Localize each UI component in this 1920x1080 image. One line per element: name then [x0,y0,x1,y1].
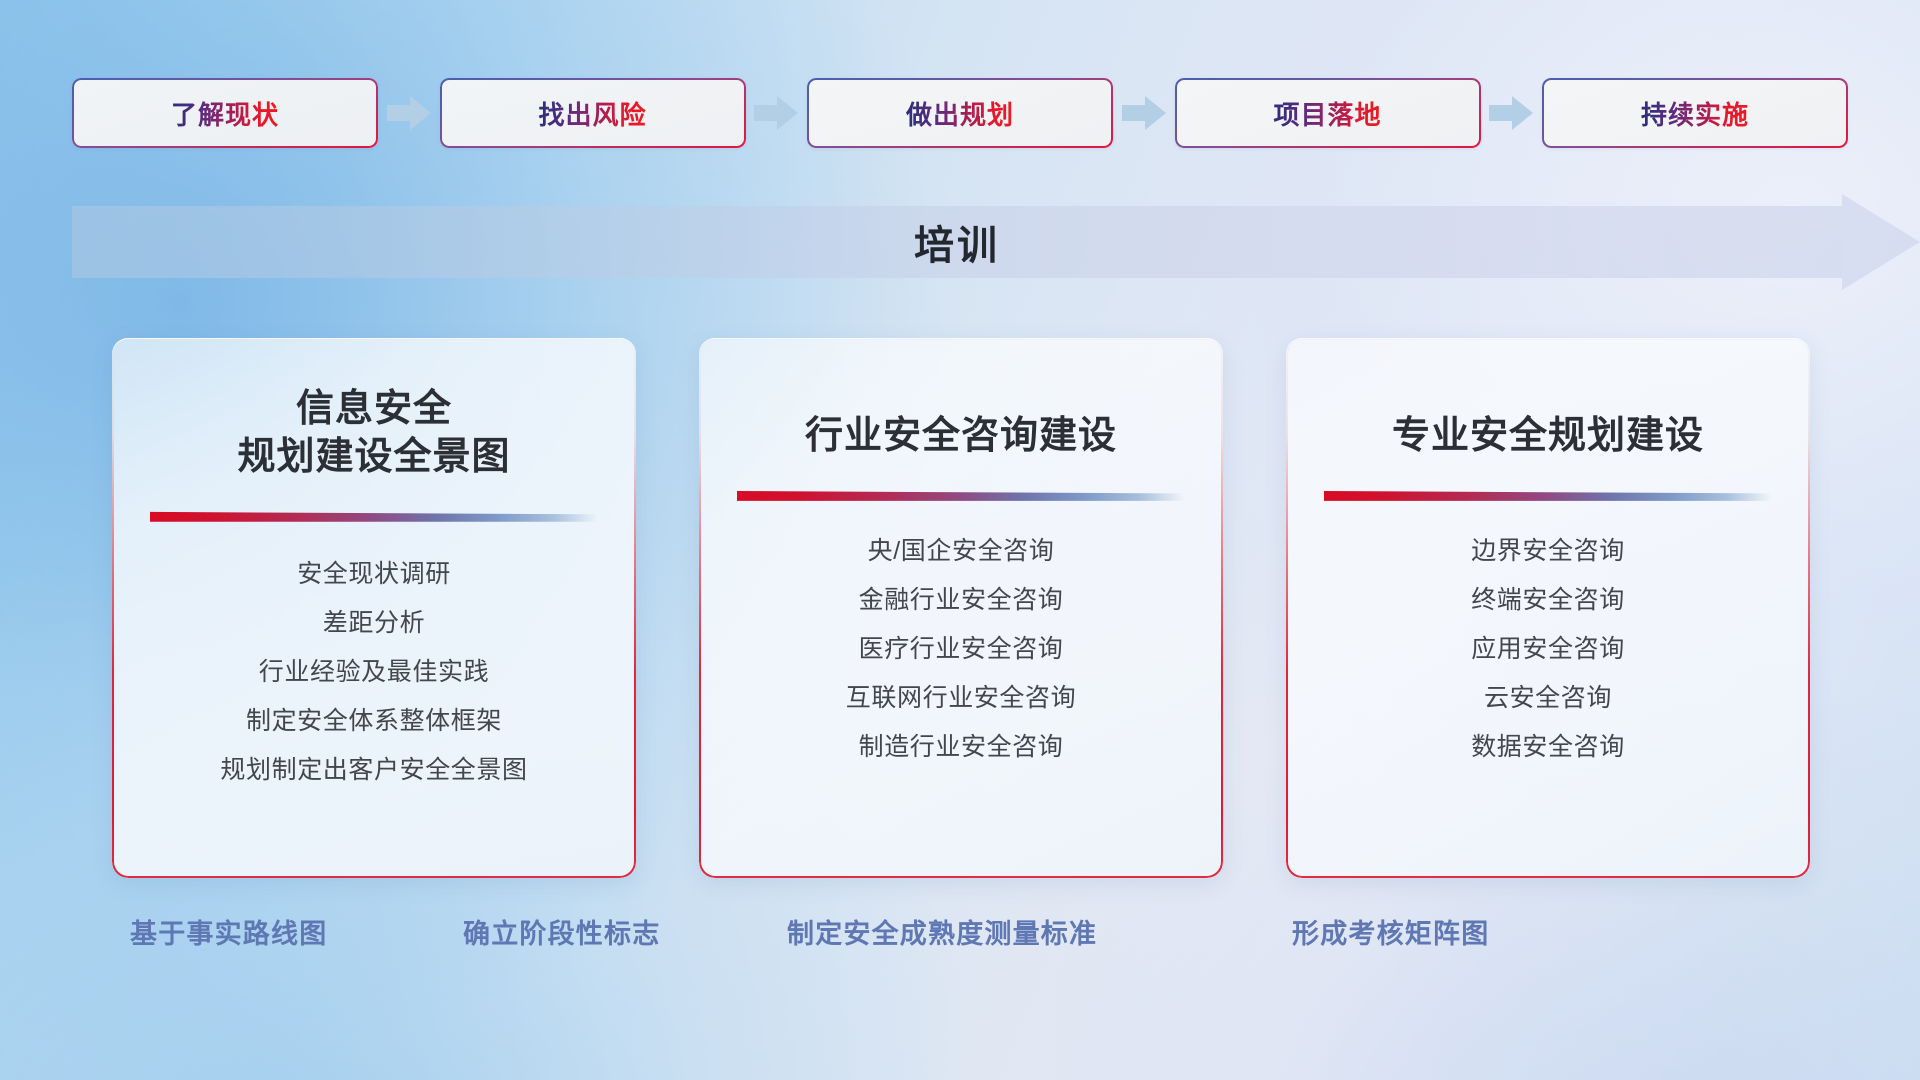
list-item: 央/国企安全咨询 [868,535,1055,568]
list-item: 差距分析 [323,607,425,640]
arrow-right-icon [1489,96,1533,130]
card-divider [737,489,1185,501]
step-chip-label: 找出风险 [538,95,646,132]
card-title: 信息安全 规划建设全景图 [237,386,510,482]
step-chip-label: 持续实施 [1641,95,1749,132]
list-item: 互联网行业安全咨询 [846,682,1076,715]
step-chip-label: 做出规划 [906,95,1014,132]
card-divider [1324,489,1772,501]
list-item: 行业经验及最佳实践 [259,656,489,689]
card-divider-bar [737,489,1185,501]
caption-text: 确立阶段性标志 [463,912,660,951]
arrow-right-icon [387,96,431,130]
process-steps: 了解现状 找出风险 做出规划 项目落地 持续实施 [72,78,1848,148]
card-industry-security-consulting[interactable]: 行业安全咨询建设 央/国企安全咨询 金融行业安全咨询 医疗行业安全咨询 互联网行… [699,338,1223,878]
caption-text: 形成考核矩阵图 [1292,912,1489,951]
arrow-right-icon [754,96,798,130]
caption-row: 基于事实路线图 确立阶段性标志 制定安全成熟度测量标准 形成考核矩阵图 [0,912,1920,960]
step-chip-5[interactable]: 持续实施 [1542,78,1848,148]
card-list: 安全现状调研 差距分析 行业经验及最佳实践 制定安全体系整体框架 规划制定出客户… [220,558,527,787]
card-list: 央/国企安全咨询 金融行业安全咨询 医疗行业安全咨询 互联网行业安全咨询 制造行… [846,535,1076,764]
slide-stage: 了解现状 找出风险 做出规划 项目落地 持续实施 培训 信息安全 规划建设全景图 [0,0,1920,1080]
step-chip-4[interactable]: 项目落地 [1175,78,1481,148]
caption-text: 制定安全成熟度测量标准 [787,912,1097,951]
card-divider [150,510,598,522]
list-item: 医疗行业安全咨询 [859,633,1064,666]
step-chip-3[interactable]: 做出规划 [807,78,1113,148]
list-item: 终端安全咨询 [1471,584,1625,617]
list-item: 制定安全体系整体框架 [246,705,502,738]
banner-arrowhead-icon [1842,194,1920,290]
list-item: 云安全咨询 [1484,682,1612,715]
card-title: 专业安全规划建设 [1392,413,1704,461]
list-item: 金融行业安全咨询 [859,584,1064,617]
card-professional-security-planning[interactable]: 专业安全规划建设 边界安全咨询 终端安全咨询 应用安全咨询 云安全咨询 数据安全… [1286,338,1810,878]
training-banner: 培训 [72,206,1920,278]
step-chip-label: 了解现状 [171,95,279,132]
card-group: 信息安全 规划建设全景图 安全现状调研 差距分析 行业经验及最佳实践 制定安全体… [112,338,1810,878]
step-chip-label: 项目落地 [1273,95,1381,132]
card-information-security-blueprint[interactable]: 信息安全 规划建设全景图 安全现状调研 差距分析 行业经验及最佳实践 制定安全体… [112,338,636,878]
step-chip-1[interactable]: 了解现状 [72,78,378,148]
list-item: 应用安全咨询 [1471,633,1625,666]
list-item: 制造行业安全咨询 [859,731,1064,764]
caption-text: 基于事实路线图 [130,912,327,951]
banner-title: 培训 [72,206,1842,278]
card-title: 行业安全咨询建设 [805,413,1117,461]
list-item: 数据安全咨询 [1471,731,1625,764]
list-item: 安全现状调研 [297,558,451,591]
card-divider-bar [150,510,598,522]
card-list: 边界安全咨询 终端安全咨询 应用安全咨询 云安全咨询 数据安全咨询 [1471,535,1625,764]
card-divider-bar [1324,489,1772,501]
list-item: 边界安全咨询 [1471,535,1625,568]
arrow-right-icon [1122,96,1166,130]
list-item: 规划制定出客户安全全景图 [220,754,527,787]
step-chip-2[interactable]: 找出风险 [440,78,746,148]
